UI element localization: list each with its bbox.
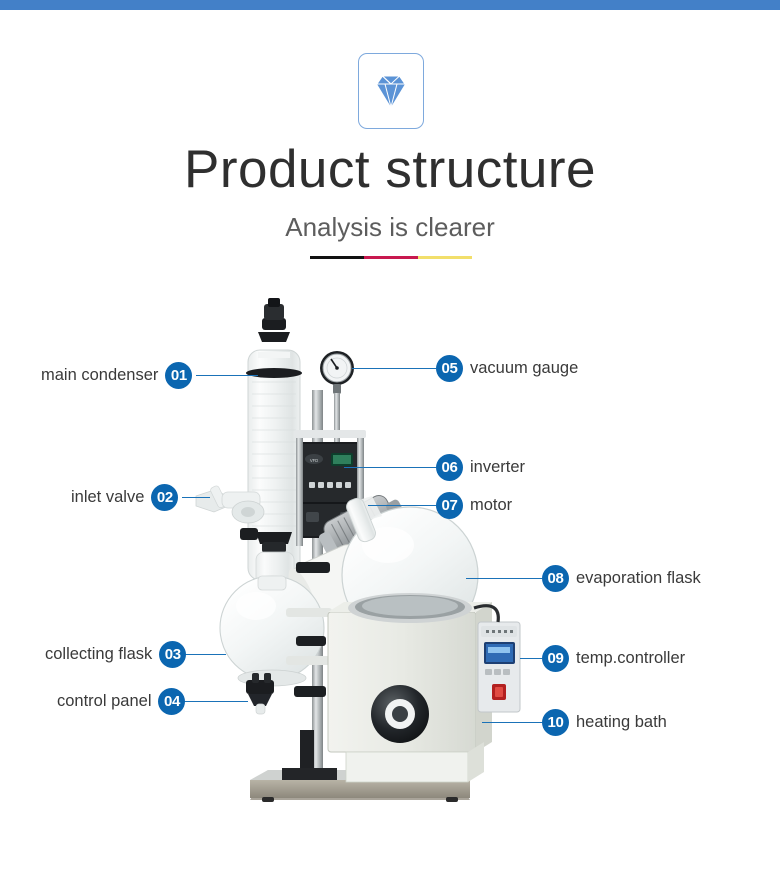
callout-10[interactable]: 10 heating bath [542, 709, 667, 736]
callout-01-badge[interactable]: 01 [165, 362, 192, 389]
leader-line-05 [352, 368, 436, 369]
callout-09-label: temp.controller [576, 649, 685, 668]
title-underline [310, 256, 472, 259]
callout-04-badge[interactable]: 04 [158, 688, 185, 715]
leader-line-09 [520, 658, 542, 659]
callout-02-label: inlet valve [71, 488, 144, 507]
heating-bath [328, 593, 492, 782]
callout-07-badge[interactable]: 07 [436, 492, 463, 519]
callout-02[interactable]: inlet valve 02 [71, 484, 178, 511]
callout-05-badge[interactable]: 05 [436, 355, 463, 382]
diamond-icon [371, 69, 411, 114]
inlet-valve [196, 485, 264, 540]
leader-line-06 [344, 467, 436, 468]
callout-01-label: main condenser [41, 366, 158, 385]
temp-controller [474, 606, 520, 712]
callout-05[interactable]: 05 vacuum gauge [436, 355, 578, 382]
collecting-flask [220, 576, 324, 686]
callout-07[interactable]: 07 motor [436, 492, 512, 519]
callout-08[interactable]: 08 evaporation flask [542, 565, 701, 592]
callout-04-label: control panel [57, 692, 151, 711]
callout-08-badge[interactable]: 08 [542, 565, 569, 592]
callout-09[interactable]: 09 temp.controller [542, 645, 685, 672]
leader-line-04 [176, 701, 248, 702]
callout-05-label: vacuum gauge [470, 359, 578, 378]
callout-06-badge[interactable]: 06 [436, 454, 463, 481]
callout-03[interactable]: collecting flask 03 [45, 641, 186, 668]
callout-03-badge[interactable]: 03 [159, 641, 186, 668]
callout-02-badge[interactable]: 02 [151, 484, 178, 511]
logo-container [358, 53, 424, 129]
underline-segment-1 [310, 256, 364, 259]
underline-segment-2 [364, 256, 418, 259]
callout-01[interactable]: main condenser 01 [41, 362, 192, 389]
callout-06[interactable]: 06 inverter [436, 454, 525, 481]
page-subtitle: Analysis is clearer [0, 211, 780, 243]
callout-04[interactable]: control panel 04 [57, 688, 185, 715]
callout-03-label: collecting flask [45, 645, 152, 664]
leader-line-01 [196, 375, 258, 376]
underline-segment-3 [418, 256, 472, 259]
svg-text:VFD: VFD [310, 458, 318, 463]
leader-line-07 [368, 505, 436, 506]
leader-line-02 [182, 497, 210, 498]
product-diagram: VFD [0, 290, 780, 871]
top-accent-bar [0, 0, 780, 10]
callout-07-label: motor [470, 496, 512, 515]
leader-line-10 [482, 722, 542, 723]
callout-09-badge[interactable]: 09 [542, 645, 569, 672]
callout-10-label: heating bath [576, 713, 667, 732]
callout-06-label: inverter [470, 458, 525, 477]
callout-08-label: evaporation flask [576, 569, 701, 588]
page-title: Product structure [0, 140, 780, 200]
leader-line-08 [466, 578, 542, 579]
condenser-top-fitting [258, 298, 290, 342]
callout-10-badge[interactable]: 10 [542, 709, 569, 736]
